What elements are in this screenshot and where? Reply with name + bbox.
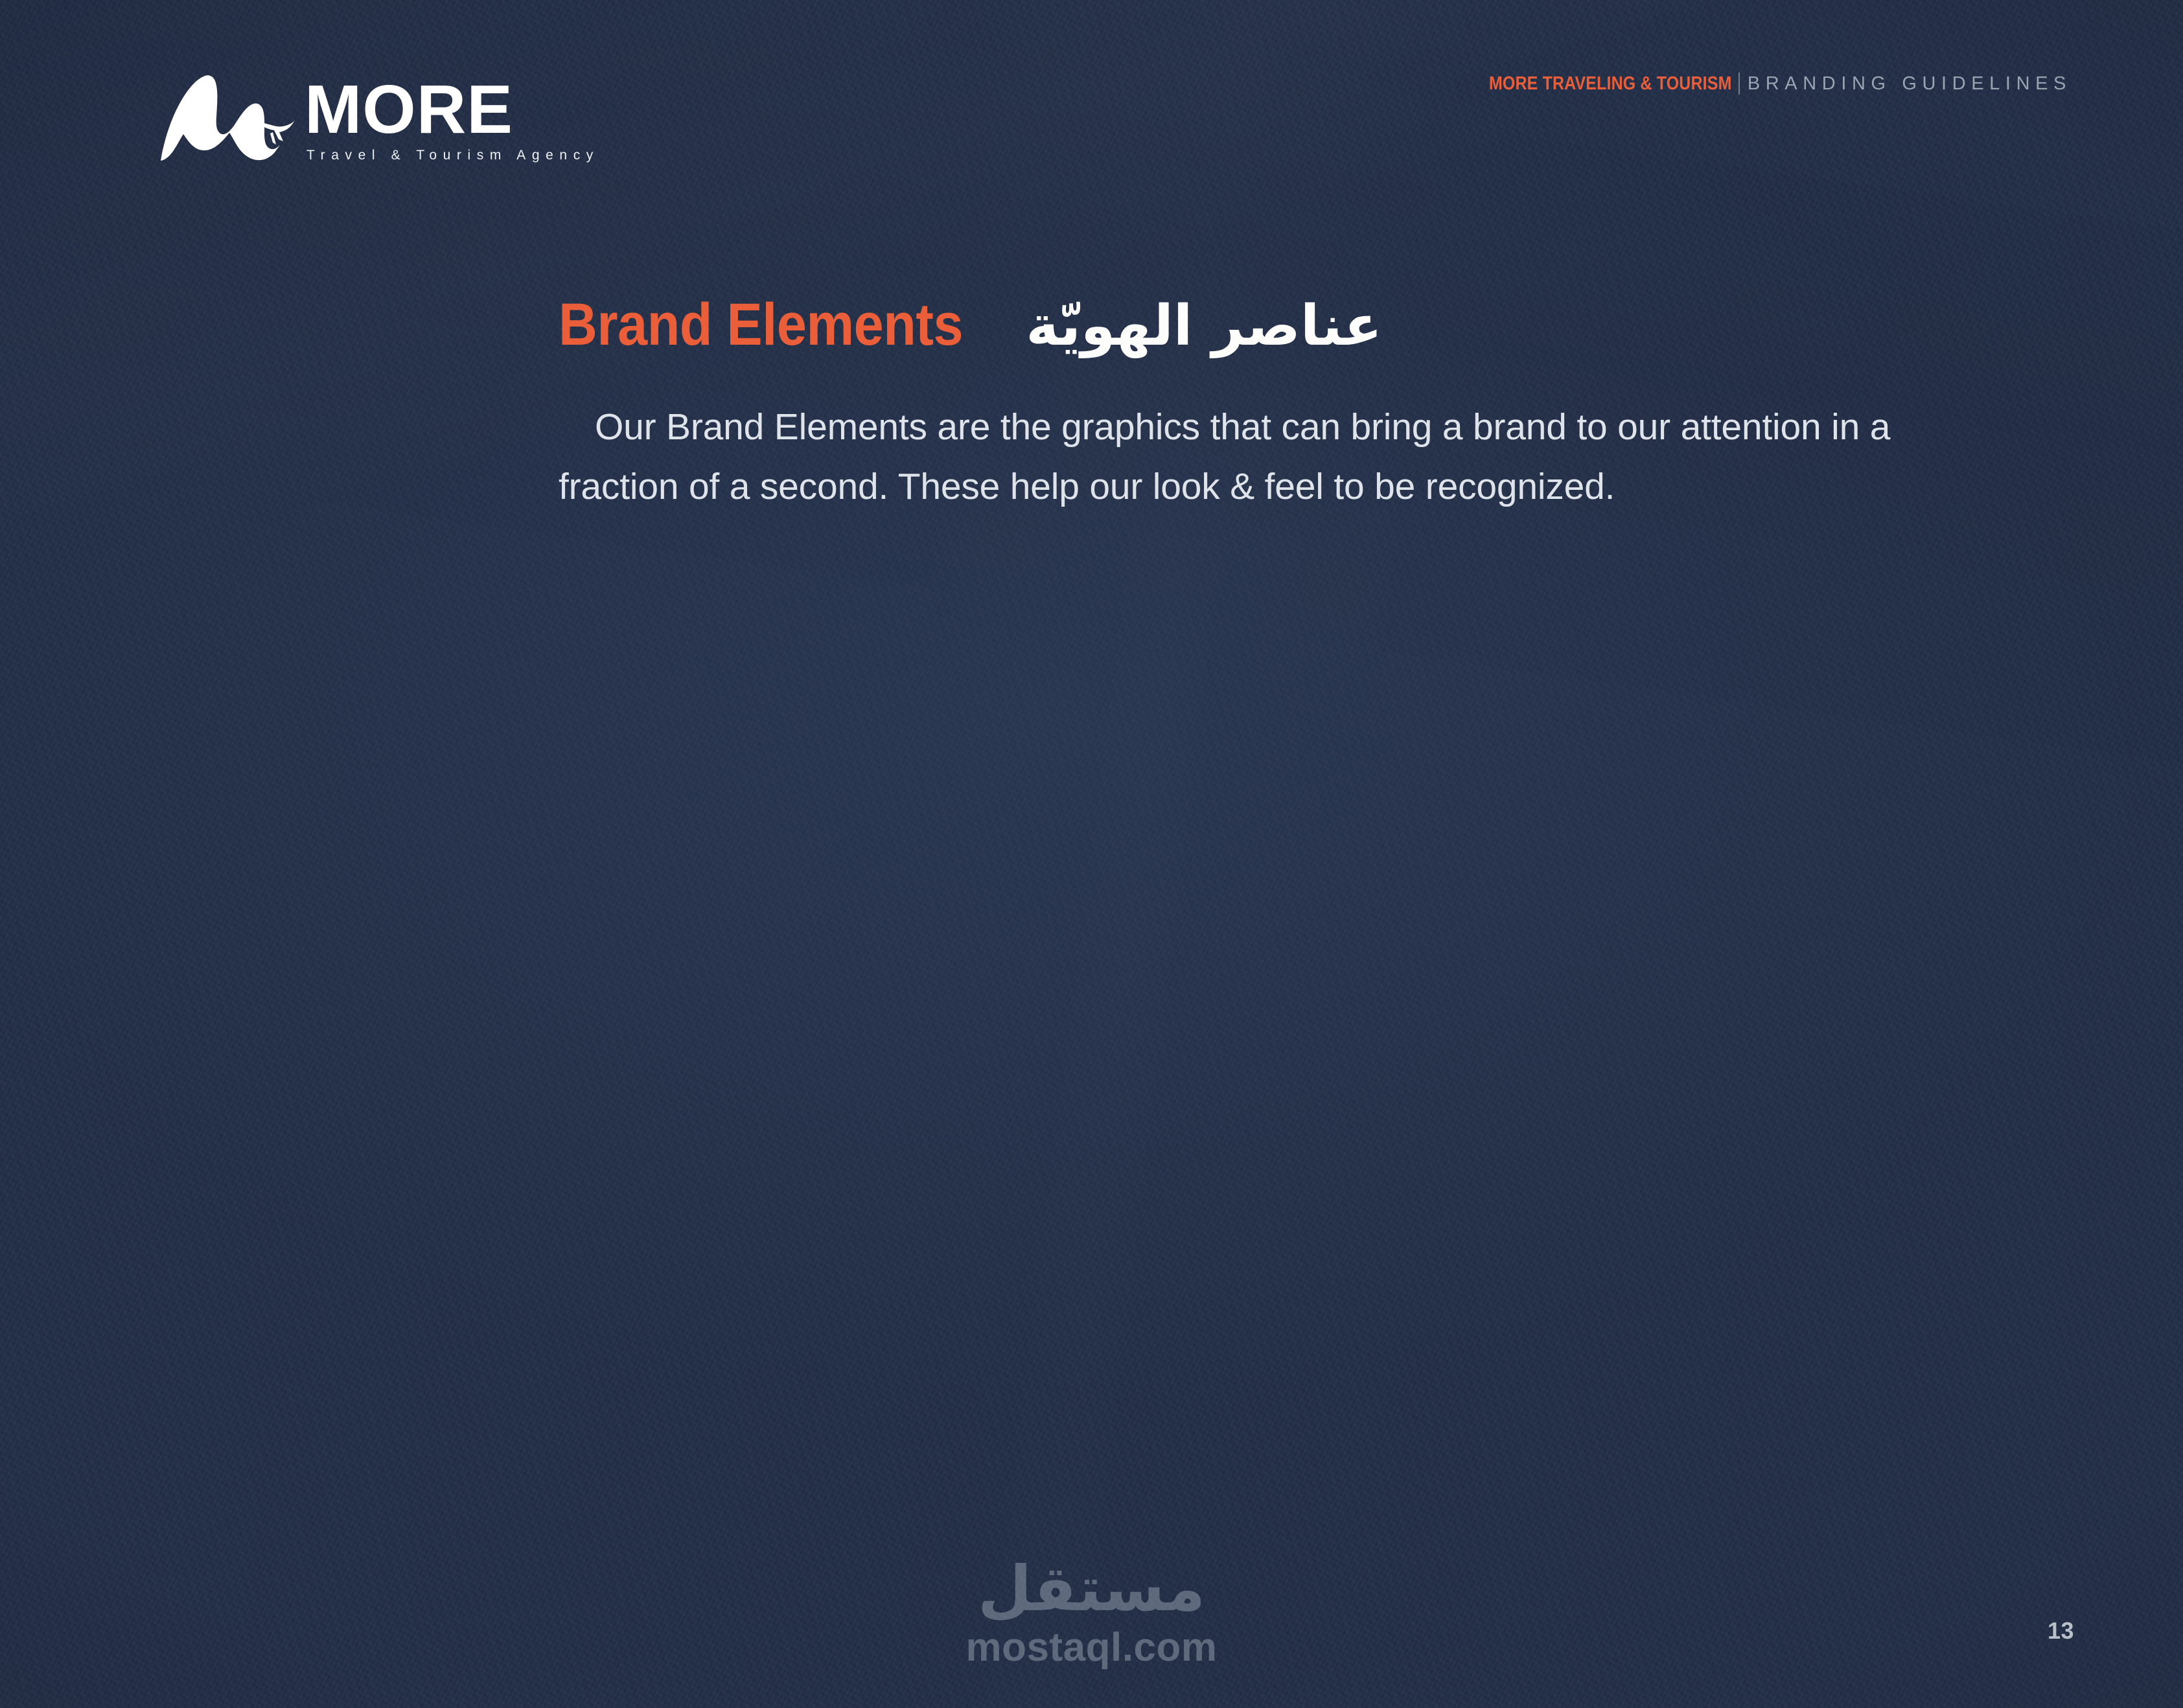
mostaql-watermark: مستقل mostaql.com (966, 1558, 1218, 1668)
page-title: Brand Elements عناصر الهويّة (559, 295, 1939, 354)
watermark-domain: mostaql.com (966, 1628, 1218, 1668)
page-number: 13 (2048, 1617, 2074, 1645)
header-document-type: BRANDING GUIDELINES (1748, 73, 2072, 95)
header-caption: MORE TRAVELING & TOURISM BRANDING GUIDEL… (1450, 73, 2072, 95)
background-texture (0, 0, 2183, 1708)
logo-wordmark: MORE (305, 78, 513, 142)
header-separator-icon (1738, 73, 1740, 95)
brand-logo: MORE Travel & Tourism Agency (154, 62, 599, 167)
page-title-arabic: عناصر الهويّة (1026, 298, 1382, 354)
logo-tagline: Travel & Tourism Agency (306, 148, 599, 163)
watermark-arabic-wordmark: مستقل (966, 1558, 1218, 1620)
logo-text-group: MORE Travel & Tourism Agency (305, 78, 599, 167)
slide-canvas: MORE Travel & Tourism Agency MORE TRAVEL… (0, 0, 2183, 1708)
main-content: Brand Elements عناصر الهويّة Our Brand E… (559, 295, 1939, 554)
body-paragraph: Our Brand Elements are the graphics that… (559, 397, 1903, 517)
header-brand-name: MORE TRAVELING & TOURISM (1489, 73, 1732, 95)
page-title-english: Brand Elements (559, 295, 963, 354)
brush-stroke-m-airplane-icon (154, 62, 295, 166)
